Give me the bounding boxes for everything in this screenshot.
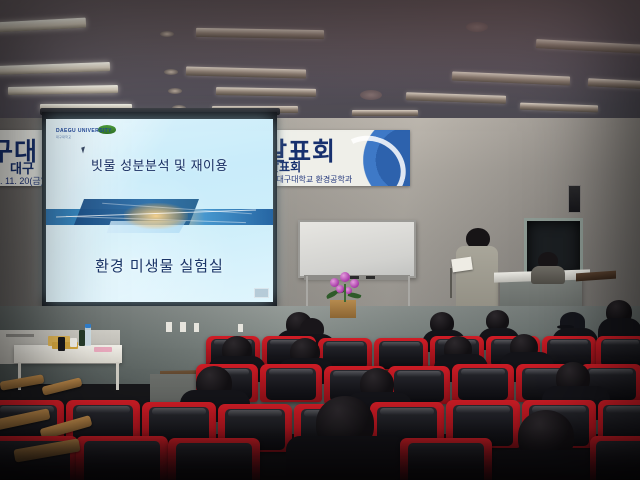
seat-highlight xyxy=(380,408,433,416)
orchid-bloom xyxy=(345,287,352,294)
mouse-cursor-icon xyxy=(81,147,87,154)
foreground-shadow xyxy=(0,428,640,480)
orchid-bloom xyxy=(350,279,359,288)
seat-highlight xyxy=(228,410,281,418)
ceiling xyxy=(0,0,640,122)
ceiling-vent xyxy=(466,22,488,32)
ceiling-light xyxy=(520,103,598,113)
orchid-bloom xyxy=(340,272,350,282)
logo-subname: 대구대학교 xyxy=(56,135,71,139)
paper-cup xyxy=(70,338,77,347)
seat-highlight xyxy=(589,369,634,375)
whiteboard-leg xyxy=(408,276,410,308)
ceiling-light xyxy=(452,71,570,85)
seat-highlight xyxy=(397,371,442,377)
seat-highlight xyxy=(456,406,509,414)
banner-right-org: : 대구대학교 환경공학과 xyxy=(272,174,352,185)
seat-highlight xyxy=(76,406,129,414)
slide-subtitle: 환경 미생물 실험실 xyxy=(46,255,273,276)
ceiling-downlight xyxy=(164,69,178,75)
ceiling-vent xyxy=(360,90,382,100)
floor-item xyxy=(180,322,186,332)
logo-name: DAEGU UNIVERSITY xyxy=(56,128,112,134)
ceiling-light xyxy=(406,92,506,103)
seat-highlight xyxy=(152,408,205,416)
event-banner-right: 발표회 발표회 : 대구대학교 환경공학과 xyxy=(262,130,410,186)
floor-item xyxy=(166,322,172,332)
ceiling-light xyxy=(0,18,86,33)
slide-corner-badge xyxy=(254,288,269,298)
ceiling-light xyxy=(186,66,306,78)
banner-left-date: 09. 11. 20(금) xyxy=(0,174,44,186)
bottle-cap xyxy=(85,324,91,328)
podium-speaker-body xyxy=(531,266,565,284)
seat-highlight xyxy=(269,369,314,375)
ceiling-light xyxy=(8,85,118,95)
auditorium-seat[interactable] xyxy=(452,364,514,402)
floor-item xyxy=(194,323,199,332)
slide-decorative-band xyxy=(46,199,273,233)
dark-bottle xyxy=(58,337,65,351)
seat-highlight xyxy=(550,340,589,345)
ceiling-light xyxy=(196,28,324,39)
seat-highlight xyxy=(326,342,365,347)
orchid-bloom xyxy=(336,285,344,293)
whiteboard-leg xyxy=(306,276,308,310)
seat-highlight xyxy=(606,406,640,414)
ceiling-downlight xyxy=(160,31,174,37)
auditorium-seat[interactable] xyxy=(260,364,322,402)
ceiling-light xyxy=(216,87,316,97)
microphone-cable xyxy=(450,268,452,298)
university-logo: DAEGU UNIVERSITY 대구대학교 xyxy=(56,125,118,141)
ceiling-light xyxy=(536,39,640,54)
table-leg xyxy=(116,362,119,390)
seat-highlight xyxy=(461,369,506,375)
pink-wrapper xyxy=(94,347,112,352)
photo-scene: 구대 대구 09. 11. 20(금) 발표회 발표회 : 대구대학교 환경공학… xyxy=(0,0,640,480)
ceiling-light xyxy=(0,62,110,75)
water-bottle xyxy=(85,326,91,346)
ceiling-downlight xyxy=(168,88,182,94)
whiteboard-marker xyxy=(366,276,375,279)
plant-pot xyxy=(330,300,356,318)
ceiling-light xyxy=(352,110,418,116)
seat-highlight xyxy=(382,342,421,347)
slide-title: 빗물 성분분석 및 재이용 xyxy=(46,155,273,174)
projected-slide: DAEGU UNIVERSITY 대구대학교 빗물 성분분석 및 재이용 환경 … xyxy=(46,119,273,302)
seat-highlight xyxy=(603,340,639,345)
wall-mounted-speaker xyxy=(568,185,581,213)
presenter-notes xyxy=(451,257,473,273)
ceiling-light xyxy=(588,78,640,90)
cabinet-handle xyxy=(6,334,34,337)
plant-stem xyxy=(344,284,346,302)
floor-item xyxy=(238,324,243,332)
whiteboard xyxy=(298,220,416,278)
